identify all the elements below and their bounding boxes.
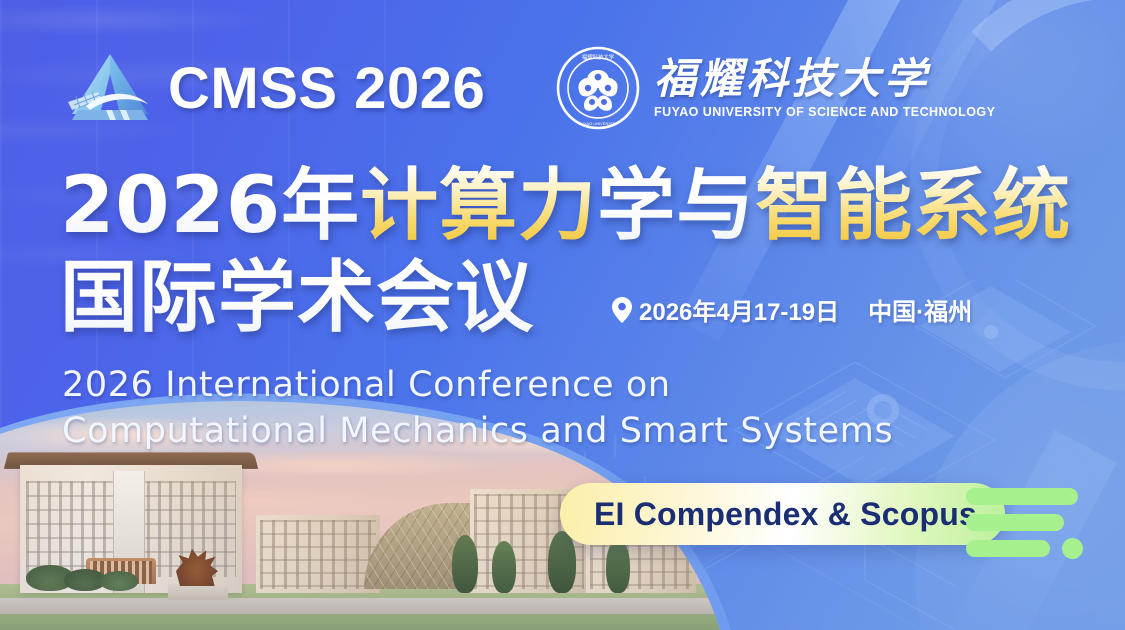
event-venue: 中国·福州 [868,292,972,327]
university-name-en: FUYAO UNIVERSITY OF SCIENCE AND TECHNOLO… [654,105,995,119]
cmss-pyramid-logo [62,48,158,130]
photo-main-roof [4,453,258,469]
svg-text:FUYAO UNIVERSITY: FUYAO UNIVERSITY [579,121,618,126]
photo-entrance-portico [86,558,156,584]
photo-tree [606,539,630,593]
indexing-badge: EI Compendex & Scopus [560,483,1005,545]
university-name-block: 福耀科技大学 FUYAO UNIVERSITY OF SCIENCE AND T… [654,57,995,118]
photo-tree [26,565,74,591]
green-dot [1062,538,1083,559]
photo-dome-building [364,503,564,589]
title-cn-year: 2026年 [60,161,360,251]
green-bar [966,540,1050,557]
photo-main-building [20,465,242,593]
university-lockup: 福耀科技大学 FUYAO UNIVERSITY 福耀科技大学 FUYAO UNI… [556,46,995,130]
photo-statue-base [168,584,228,600]
conference-banner: CMSS 2026 福耀科技大学 FUYAO UNIVERSITY [0,0,1125,630]
svg-text:福耀科技大学: 福耀科技大学 [582,53,615,61]
photo-building-wing [256,515,380,593]
fuyao-university-seal: 福耀科技大学 FUYAO UNIVERSITY [556,46,640,130]
photo-tree [452,535,478,593]
conference-acronym-title: CMSS 2026 [168,60,485,118]
photo-tree [100,571,138,591]
conference-title-en-line2: Computational Mechanics and Smart System… [62,408,893,454]
conference-brand-header: CMSS 2026 [62,48,485,130]
university-name-cn: 福耀科技大学 [654,57,995,101]
green-bar [966,514,1064,531]
title-cn-seg-white-1: 学与 [597,161,755,251]
photo-tree [492,541,516,593]
photo-lawn [0,584,780,630]
map-pin-icon [612,297,632,323]
conference-title-cn-line1: 2026年计算力学与智能系统 [60,160,1071,252]
photo-plaza [0,598,780,614]
title-cn-seg-gold-1: 计算力 [360,161,597,251]
photo-tree [64,569,106,591]
green-bar [966,488,1078,505]
photo-tree [548,531,576,593]
event-meta: 2026年4月17-19日 中国·福州 [612,292,972,327]
conference-title-en-line1: 2026 International Conference on [62,362,893,408]
event-date: 2026年4月17-19日 [639,292,839,327]
photo-bronze-sculpture [176,546,218,586]
indexing-badge-label: EI Compendex & Scopus [594,496,977,533]
title-cn-seg-gold-2: 智能系统 [755,161,1071,251]
green-bars-decoration [1006,488,1116,568]
conference-title-en: 2026 International Conference on Computa… [62,362,893,454]
